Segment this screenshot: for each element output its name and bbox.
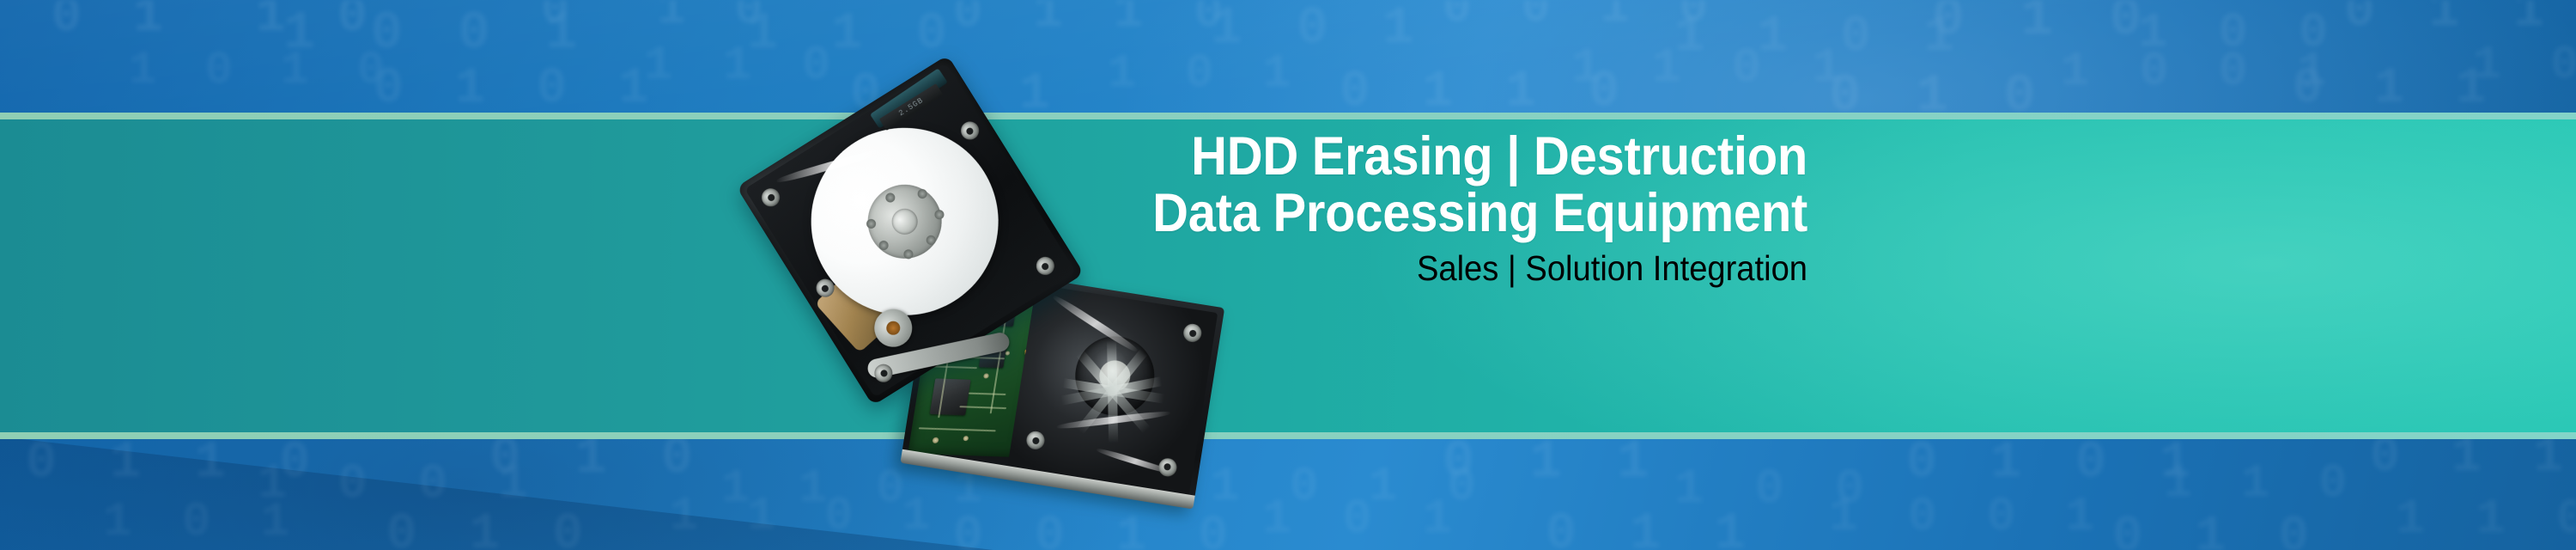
band-accent-rule-bottom — [0, 432, 2576, 439]
drive-base-casting — [1007, 284, 1218, 497]
hard-drive-photo-group: 2.5GB — [777, 101, 1258, 488]
hdd-services-banner: 0 1 1 01 0 0 10 1 01 1 00 1 1 01 0 10 0 … — [0, 0, 2576, 550]
band-accent-rule-top — [0, 113, 2576, 119]
drive-spindle-hub — [854, 171, 956, 273]
